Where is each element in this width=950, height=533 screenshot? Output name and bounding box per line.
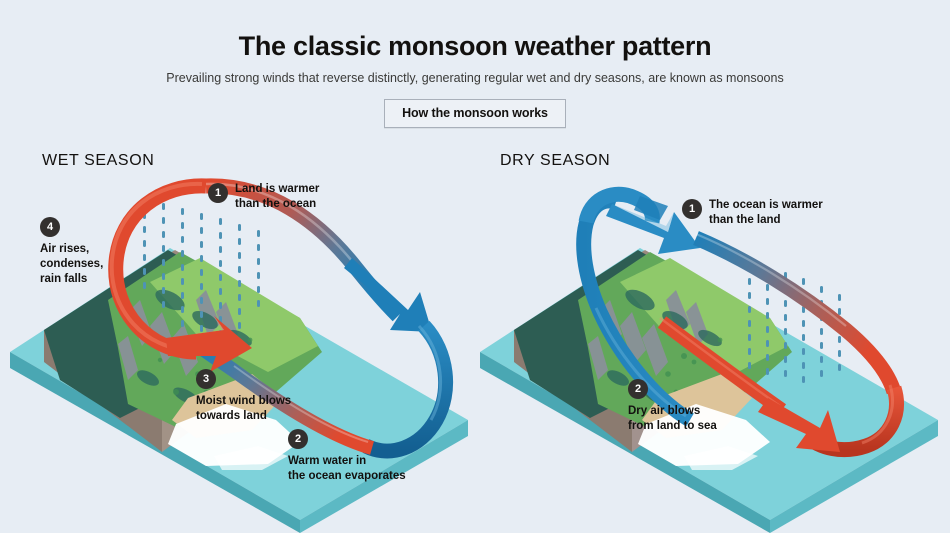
dry-season-heading: DRY SEASON [500, 152, 610, 170]
wet-season-heading: WET SEASON [42, 152, 154, 170]
callout-label: The ocean is warmer than the land [709, 198, 823, 228]
callout-wet-4: 4 Air rises, condenses, rain falls [40, 216, 103, 288]
callout-badge: 1 [682, 199, 702, 219]
callout-label: Dry air blows from land to sea [628, 404, 717, 434]
callout-wet-1: 1 Land is warmer than the ocean [208, 182, 319, 212]
dry-season-scene [480, 194, 938, 533]
callout-label: Air rises, condenses, rain falls [40, 242, 103, 288]
callout-label: Land is warmer than the ocean [235, 182, 319, 212]
infographic-canvas: The classic monsoon weather pattern Prev… [0, 0, 950, 533]
callout-badge: 1 [208, 183, 228, 203]
callout-badge: 2 [628, 379, 648, 399]
callout-wet-3: 3 Moist wind blows towards land [196, 368, 291, 424]
callout-badge: 4 [40, 217, 60, 237]
callout-wet-2: 2 Warm water in the ocean evaporates [288, 428, 406, 484]
callout-dry-2: 2 Dry air blows from land to sea [628, 378, 717, 434]
callout-badge: 3 [196, 369, 216, 389]
callout-label: Warm water in the ocean evaporates [288, 454, 406, 484]
callout-dry-1: 1 The ocean is warmer than the land [682, 198, 823, 228]
callout-label: Moist wind blows towards land [196, 394, 291, 424]
monsoon-illustration [0, 0, 950, 533]
callout-badge: 2 [288, 429, 308, 449]
cool-descending-arrow-wet [344, 258, 432, 332]
